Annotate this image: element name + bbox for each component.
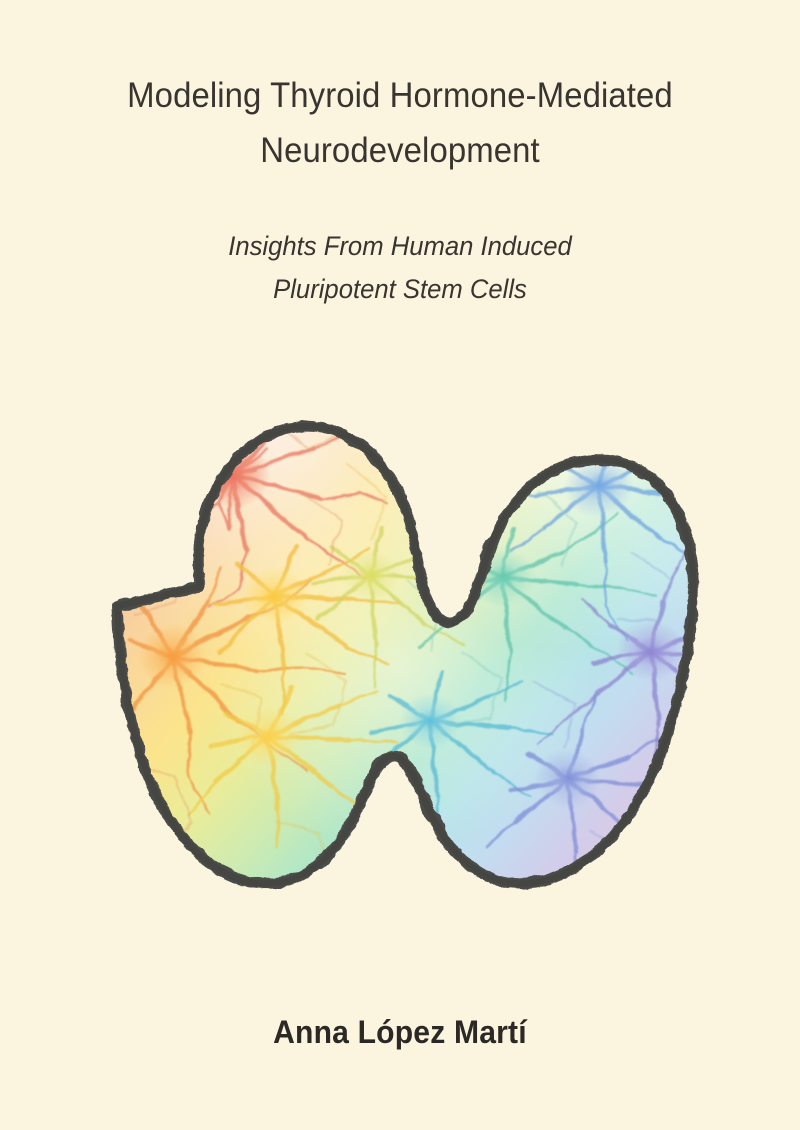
soma-7: [399, 693, 461, 749]
title-line-1: Modeling Thyroid Hormone-Mediated: [71, 68, 729, 123]
soma-10: [535, 749, 601, 809]
author-block: Anna López Martí: [0, 1014, 800, 1051]
subtitle-line-2: Pluripotent Stem Cells: [68, 268, 733, 312]
author-name: Anna López Martí: [273, 1014, 527, 1051]
soma-2: [136, 624, 208, 690]
page-subtitle: Insights From Human Induced Pluripotent …: [50, 225, 750, 312]
subtitle-text: Insights From Human Induced Pluripotent …: [68, 225, 733, 312]
soma-9: [617, 620, 685, 682]
page-title: Modeling Thyroid Hormone-Mediated Neurod…: [50, 68, 750, 179]
thyroid-gland-illustration: [70, 352, 730, 962]
soma-5: [340, 548, 400, 602]
book-cover: Modeling Thyroid Hormone-Mediated Neurod…: [0, 0, 800, 1130]
soma-4: [235, 706, 301, 766]
subtitle-line-1: Insights From Human Induced: [68, 225, 733, 269]
title-text: Modeling Thyroid Hormone-Mediated Neurod…: [71, 68, 729, 179]
gland-fill: [70, 352, 730, 962]
title-line-2: Neurodevelopment: [71, 123, 729, 178]
soma-3: [242, 566, 308, 626]
